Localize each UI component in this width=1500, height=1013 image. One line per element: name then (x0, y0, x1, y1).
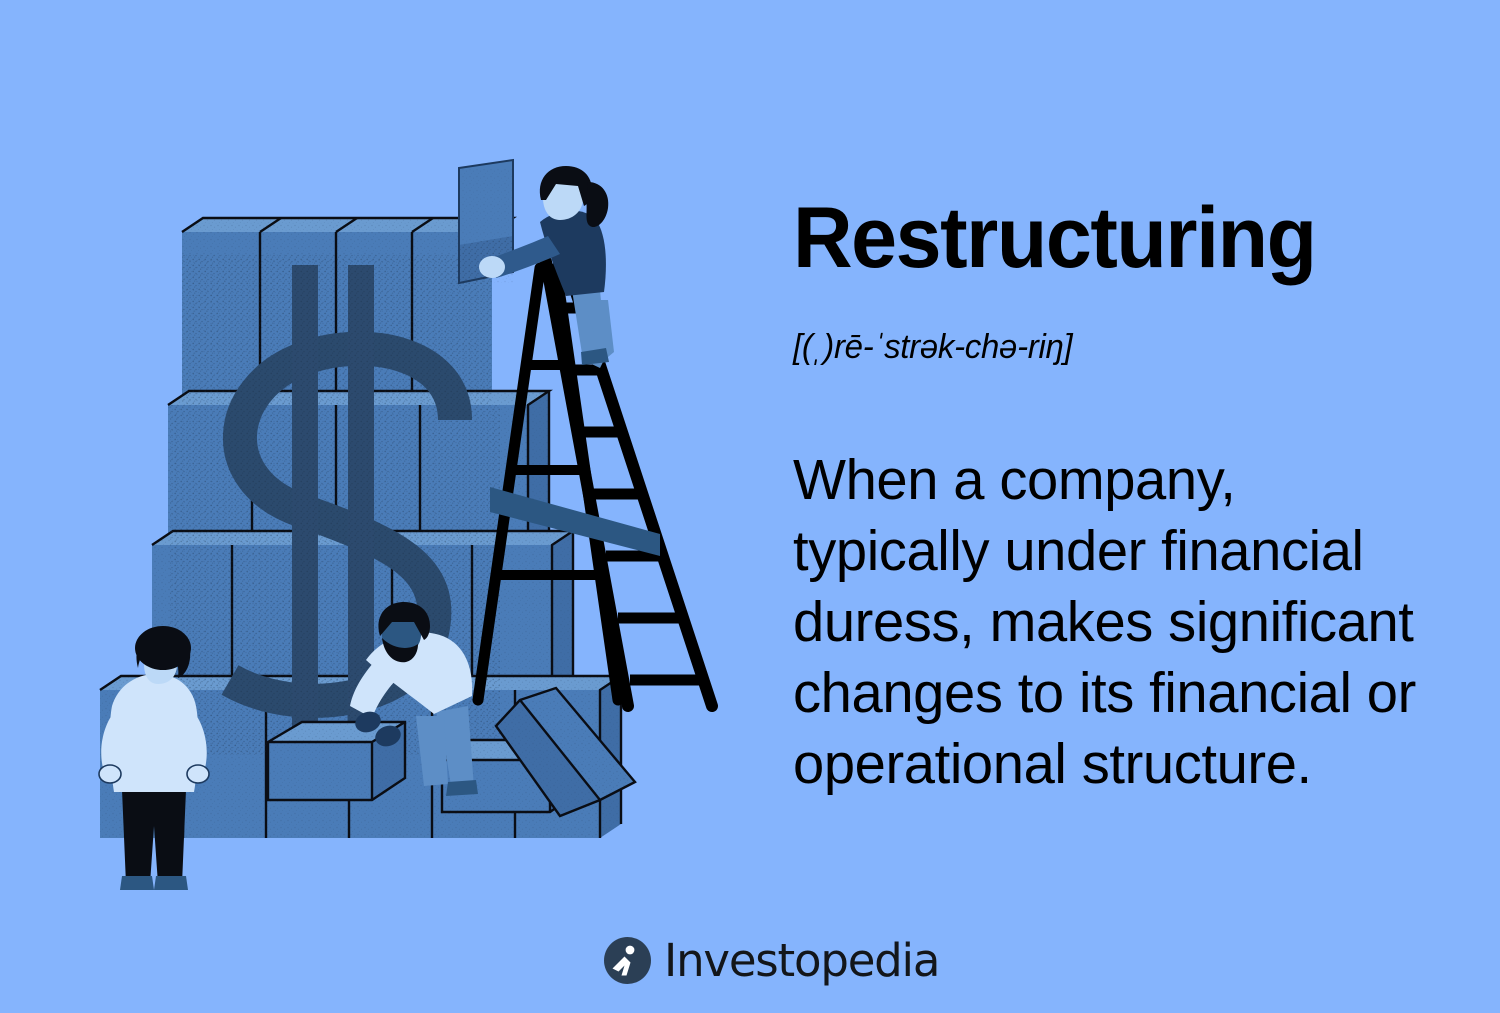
definition-panel: Restructuring [(ˌ)rē-ˈstrək-chə-riŋ] Whe… (793, 196, 1453, 800)
investopedia-wordmark: Investopedia (664, 938, 939, 983)
definition-text: When a company, typically under financia… (793, 367, 1423, 800)
illustration-svg (0, 0, 760, 1013)
investopedia-logo-icon (604, 937, 651, 984)
pronunciation-text: [(ˌ)rē-ˈstrək-chə-riŋ] (793, 280, 1433, 367)
illustration (0, 0, 760, 1013)
infographic-card: Restructuring [(ˌ)rē-ˈstrək-chə-riŋ] Whe… (0, 0, 1500, 1013)
investopedia-logo: Investopedia (604, 937, 939, 984)
page-title: Restructuring (793, 196, 1427, 280)
